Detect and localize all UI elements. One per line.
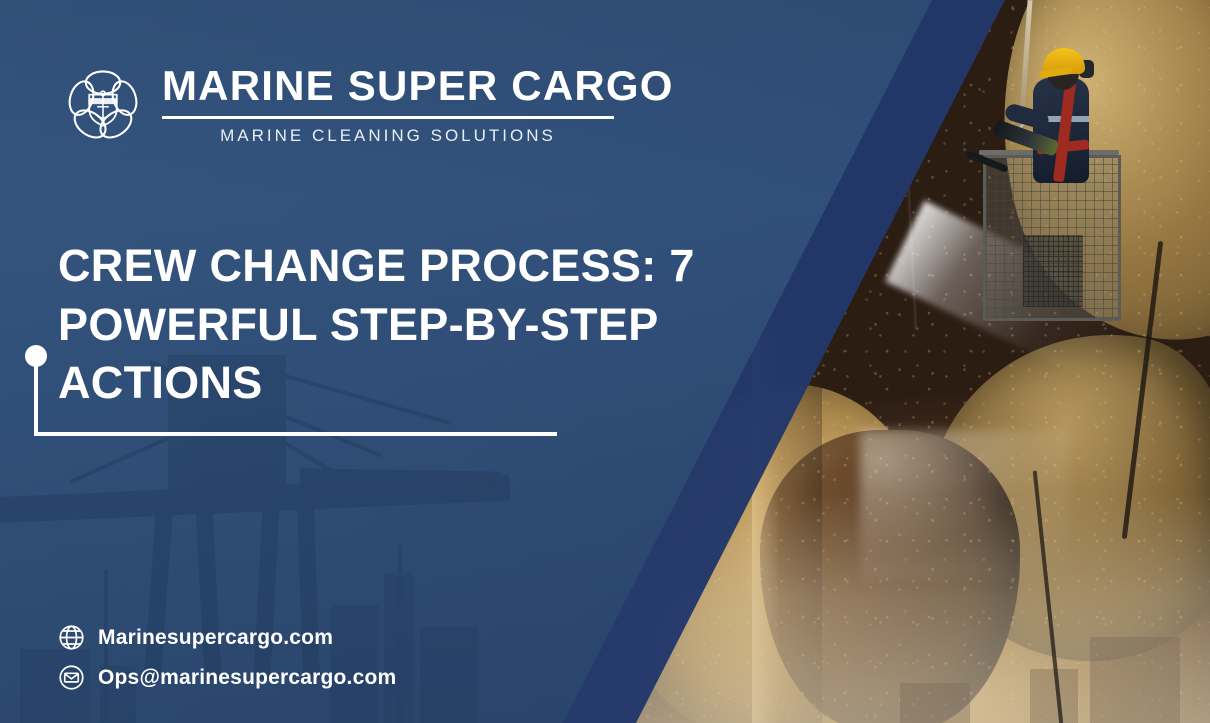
bracket-vertical-rule	[34, 366, 38, 436]
brand-divider	[162, 116, 614, 119]
brand-logo: MARINE SUPER CARGO MARINE CLEANING SOLUT…	[60, 62, 674, 148]
brand-wordmark: MARINE SUPER CARGO MARINE CLEANING SOLUT…	[162, 65, 674, 146]
contact-list: Marinesupercargo.com Ops@marinesupercarg…	[58, 624, 396, 704]
contact-website[interactable]: Marinesupercargo.com	[58, 624, 396, 651]
brand-tagline: MARINE CLEANING SOLUTIONS	[162, 126, 614, 146]
bracket-dot-icon	[25, 345, 47, 367]
page-title: CREW CHANGE PROCESS: 7 POWERFUL STEP-BY-…	[58, 237, 718, 413]
banner-content: MARINE SUPER CARGO MARINE CLEANING SOLUT…	[0, 0, 1210, 723]
envelope-icon	[58, 664, 85, 691]
marketing-banner: MARINE SUPER CARGO MARINE CLEANING SOLUT…	[0, 0, 1210, 723]
rope-knot-anchor-emblem-icon	[60, 62, 146, 148]
contact-website-label: Marinesupercargo.com	[98, 626, 333, 650]
contact-email-label: Ops@marinesupercargo.com	[98, 666, 396, 690]
globe-icon	[58, 624, 85, 651]
brand-name: MARINE SUPER CARGO	[162, 65, 674, 107]
bracket-horizontal-rule	[34, 432, 557, 436]
contact-email[interactable]: Ops@marinesupercargo.com	[58, 664, 396, 691]
